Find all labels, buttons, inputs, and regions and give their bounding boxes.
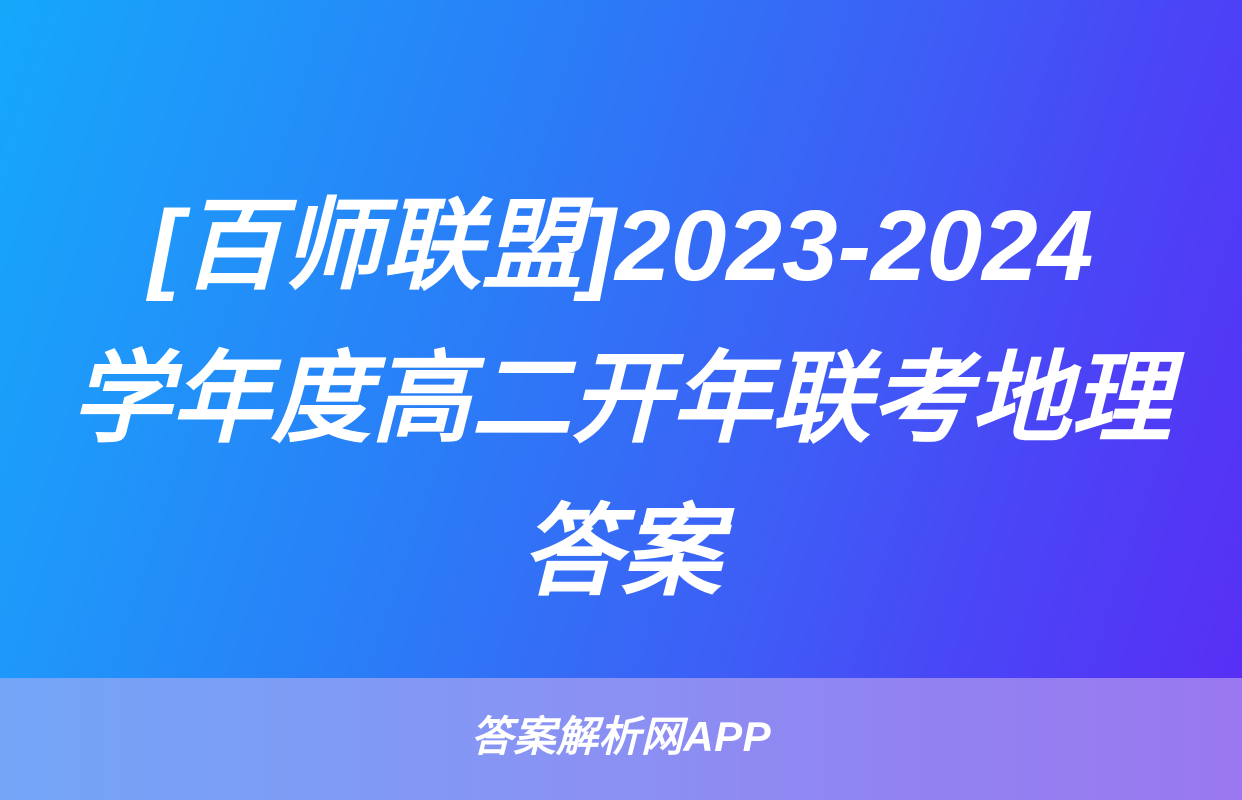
watermark-label: 答案解析网APP	[471, 713, 771, 760]
title-line-2: 学年度高二开年联考地理	[0, 323, 1242, 476]
title-line-3: 答案	[0, 476, 1242, 629]
cover-image-canvas: [百师联盟]2023-2024 学年度高二开年联考地理 答案 答案解析网APP	[0, 0, 1242, 800]
cover-title: [百师联盟]2023-2024 学年度高二开年联考地理 答案	[0, 170, 1242, 629]
title-line-1: [百师联盟]2023-2024	[0, 170, 1242, 323]
watermark: 答案解析网APP	[0, 713, 1242, 761]
